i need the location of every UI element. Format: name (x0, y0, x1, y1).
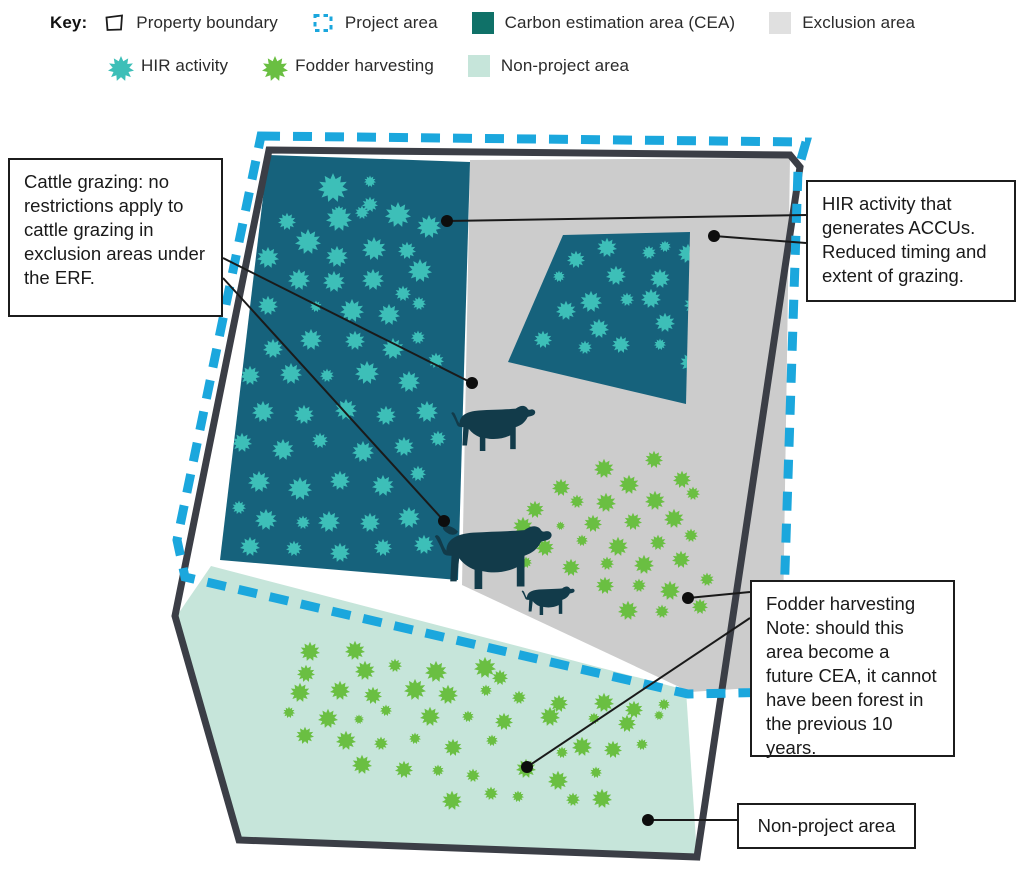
leader-dot-nonproject (642, 814, 654, 826)
callout-fodder-harvesting: Fodder harvesting Note: should this area… (750, 580, 955, 757)
leader-dot-fodder-nonproject (521, 761, 533, 773)
leader-dot-cea-right (708, 230, 720, 242)
callout-cattle-grazing-text: Cattle grazing: no restrictions apply to… (24, 171, 205, 288)
leader-dot-fodder-exclusion (682, 592, 694, 604)
diagram-page: Key: Property boundary Project area (0, 0, 1024, 870)
leader-dot-exclusion-lower (438, 515, 450, 527)
callout-non-project-area-text: Non-project area (758, 814, 896, 838)
callout-fodder-harvesting-text: Fodder harvesting Note: should this area… (766, 593, 937, 758)
leader-dot-exclusion-upper (466, 377, 478, 389)
leader-dot-cea-left (441, 215, 453, 227)
callout-hir-activity-text: HIR activity that generates ACCUs. Reduc… (822, 193, 987, 286)
callout-hir-activity: HIR activity that generates ACCUs. Reduc… (806, 180, 1016, 302)
callout-non-project-area: Non-project area (737, 803, 916, 849)
callout-cattle-grazing: Cattle grazing: no restrictions apply to… (8, 158, 223, 317)
